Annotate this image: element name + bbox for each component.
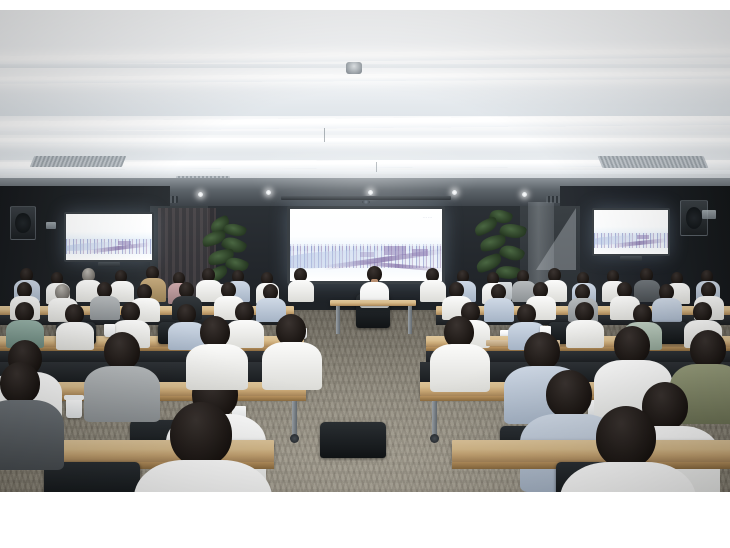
person-torso [652,298,682,322]
meeting-booklet [486,340,508,346]
display-watermark-text: ······ [422,215,432,220]
person-torso [90,296,120,320]
wall-sign [702,210,716,219]
ceiling-sensor [346,62,362,74]
person-head [0,362,40,404]
building-cluster [637,235,649,240]
display-top-rail [281,196,451,200]
presenter-desk [330,300,416,306]
conference-room-photograph: ······ [0,10,730,492]
person-torso [262,342,322,390]
person-torso [484,298,514,322]
cup-lid [64,395,84,400]
person-head [235,302,254,322]
air-vent-grille [598,156,709,168]
person-head [517,304,536,324]
person-head [177,304,196,324]
ceiling-rail [0,131,730,135]
ceiling-rail [0,170,730,174]
right-display-content [594,210,668,254]
hanging-wire [324,128,325,142]
person-torso [288,280,314,302]
conference-chair[interactable] [320,422,386,458]
person-head [104,332,140,370]
display-camera-icon [362,200,370,204]
person-head [614,326,650,364]
person-head [575,302,594,322]
person-head [170,402,232,466]
main-led-display[interactable]: ······ [287,206,445,284]
person-head [690,330,726,368]
air-vent-grille [30,156,126,167]
person-head [121,302,140,322]
left-side-display[interactable] [64,212,154,262]
display-mount-bar [620,256,642,261]
display-mount-bar [98,262,120,267]
person-head [633,304,652,324]
ceiling-shadow-band [0,82,730,116]
desk-leg [432,401,437,437]
left-display-content [66,214,152,260]
hanging-wire [376,162,377,172]
desk-leg [408,306,412,334]
main-display-content: ······ [290,209,442,281]
person-torso [430,344,490,392]
ceiling-downlight [198,192,203,197]
training-desk [452,440,730,462]
desk-leg [336,306,340,334]
ceiling-downlight [368,190,373,195]
person-head [546,370,592,418]
wall-speaker-left [10,206,36,240]
person-torso [0,400,64,470]
person-torso [566,320,604,348]
person-head [693,302,712,322]
paper-cup [66,398,82,418]
ceiling-downlight [266,190,271,195]
person-torso [186,344,248,390]
screenshot-root: ······ [0,0,730,548]
building-cluster [118,241,132,246]
person-head [65,304,84,324]
right-side-display[interactable] [592,208,670,256]
person-head [15,302,34,322]
person-torso [84,366,160,422]
wall-light-accent [536,208,576,270]
person-torso [56,322,94,350]
person-head [596,406,656,468]
desk-caster [290,434,299,443]
wall-sign [46,222,56,229]
desk-leg [292,401,297,437]
ceiling-rail [0,64,730,68]
plant-leaf [223,221,248,239]
ceiling-downlight [452,190,457,195]
building-cluster [384,246,405,255]
building-cluster [360,252,374,257]
ceiling-downlight [522,192,527,197]
plant-leaf [472,216,499,237]
person-torso [420,280,446,302]
building-cluster [412,249,429,255]
person-head [524,332,560,370]
desk-caster [430,434,439,443]
